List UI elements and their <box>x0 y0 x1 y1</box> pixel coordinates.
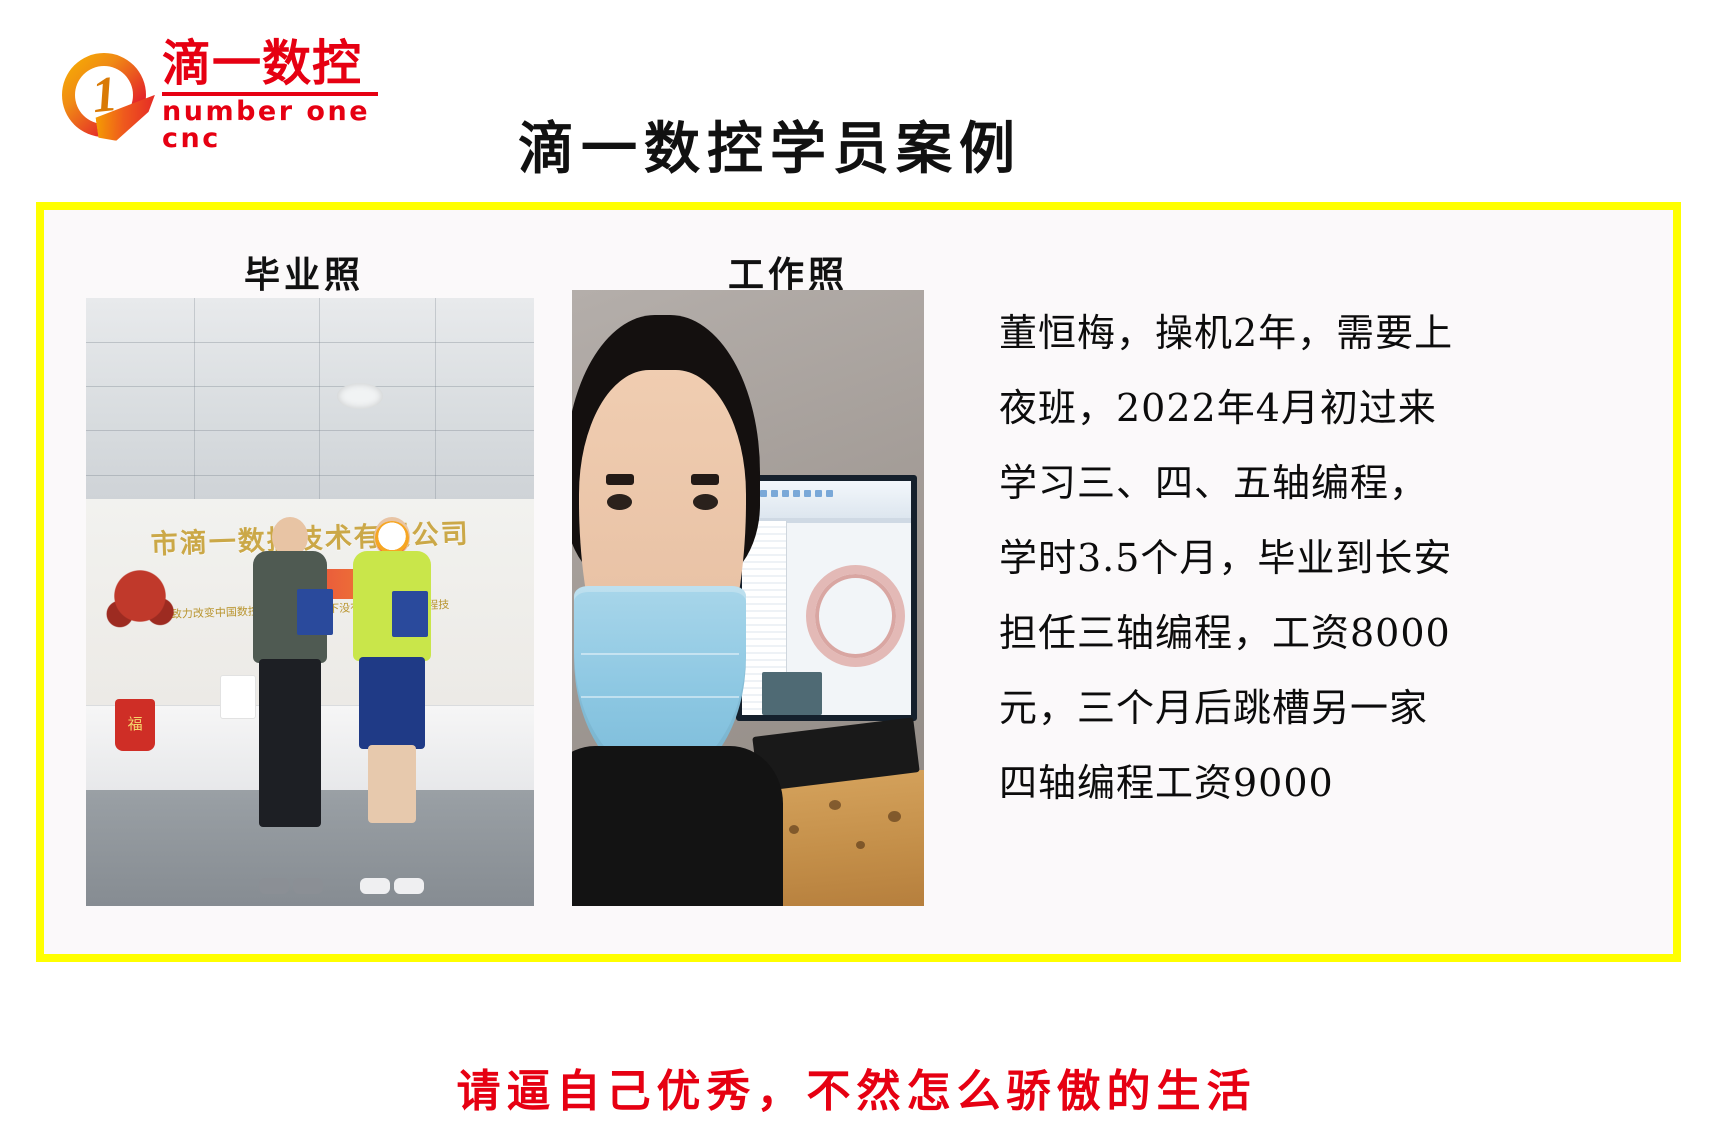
eyebrow-left <box>606 474 634 485</box>
red-flower-plant <box>104 566 176 686</box>
work-photo <box>572 290 924 906</box>
eye-left <box>607 494 632 510</box>
logo-digit-one: 1 <box>89 68 119 120</box>
ceiling-region <box>86 298 534 499</box>
story-line: 学时3.5个月，毕业到长安 <box>999 521 1599 596</box>
student-story-text: 董恒梅，操机2年，需要上 夜班，2022年4月初过来 学习三、四、五轴编程， 学… <box>999 296 1599 821</box>
sandal-right-b <box>394 878 424 894</box>
sandal-right-a <box>360 878 390 894</box>
brand-logo: 1 滴一数控 number one cnc <box>58 40 378 150</box>
certificate-left <box>297 589 333 635</box>
story-line: 元，三个月后跳槽另一家 <box>999 671 1599 746</box>
story-line: 夜班，2022年4月初过来 <box>999 371 1599 446</box>
story-line: 担任三轴编程，工资8000 <box>999 596 1599 671</box>
logo-wordmark: 滴一数控 number one cnc <box>162 38 378 153</box>
story-line: 四轴编程工资9000 <box>999 746 1599 821</box>
logo-english-name: number one cnc <box>162 98 378 152</box>
case-card: 毕业照 工作照 市滴一数控技术有限公司 致力改变中国数控行业现状 让天下没有难学… <box>36 202 1681 962</box>
person-legs-left <box>259 659 321 827</box>
student-portrait <box>572 290 783 906</box>
eye-right <box>693 494 718 510</box>
shoe-left-a <box>259 878 289 894</box>
graduation-photo: 市滴一数控技术有限公司 致力改变中国数控行业现状 让天下没有难学的数控编程技术 <box>86 298 534 906</box>
person-legs-right <box>359 657 425 749</box>
footer-slogan: 请逼自己优秀，不然怎么骄傲的生活 <box>0 1055 1713 1119</box>
black-shirt <box>572 746 783 906</box>
page-title: 滴一数控学员案例 <box>470 104 1070 185</box>
story-line: 董恒梅，操机2年，需要上 <box>999 296 1599 371</box>
caption-graduation-photo: 毕业照 <box>244 246 364 298</box>
certificate-right <box>392 591 428 637</box>
ceiling-light <box>337 383 383 409</box>
logo-chinese-name: 滴一数控 <box>162 38 378 91</box>
graduate-person-left <box>247 517 333 894</box>
person-lower-legs-right <box>368 745 416 823</box>
graduate-person-right <box>346 517 438 894</box>
shoe-left-b <box>293 878 323 894</box>
fu-vase <box>115 699 155 751</box>
cat-face-sticker-icon <box>375 521 409 555</box>
number-one-cnc-logo-icon: 1 <box>58 47 154 143</box>
eyebrow-right <box>691 474 719 485</box>
cad-ring-part-model <box>806 565 905 667</box>
story-line: 学习三、四、五轴编程， <box>999 446 1599 521</box>
